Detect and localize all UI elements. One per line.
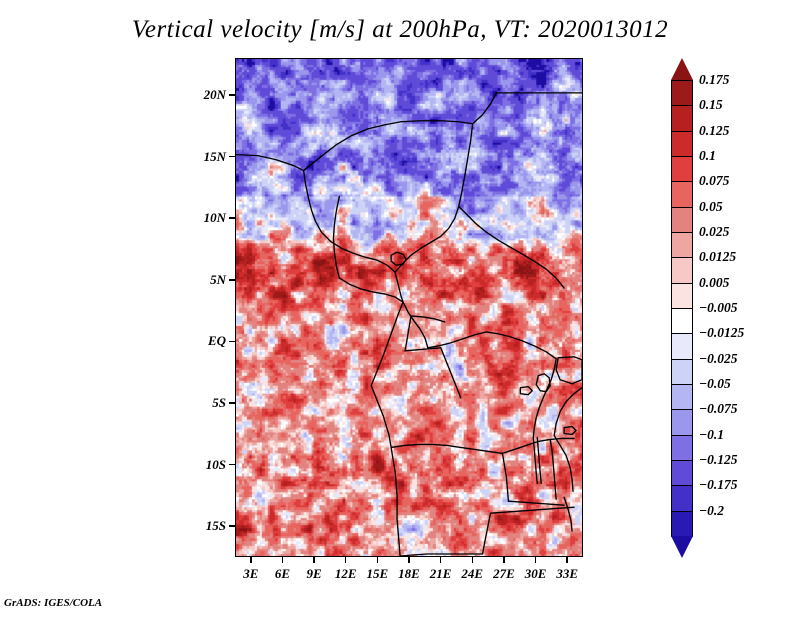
colorbar-band — [671, 80, 693, 107]
colorbar-tick-label: −0.1 — [699, 427, 724, 443]
colorbar-band — [671, 308, 693, 335]
y-axis-tick — [229, 156, 235, 158]
x-axis-label: 12E — [335, 566, 357, 582]
x-axis-tick — [408, 557, 410, 563]
colorbar-band — [671, 485, 693, 512]
x-axis-tick — [313, 557, 315, 563]
colorbar-tick-label: 0.175 — [699, 72, 729, 88]
colorbar-band — [671, 409, 693, 436]
colorbar-band — [671, 460, 693, 487]
x-axis-label: 30E — [525, 566, 547, 582]
x-axis-tick — [440, 557, 442, 563]
colorbar-band — [671, 359, 693, 386]
x-axis-label: 15E — [367, 566, 389, 582]
x-axis-tick — [472, 557, 474, 563]
colorbar-band — [671, 105, 693, 132]
y-axis-tick — [229, 94, 235, 96]
page-title: Vertical velocity [m/s] at 200hPa, VT: 2… — [0, 16, 800, 44]
x-axis-label: 21E — [430, 566, 452, 582]
colorbar-tick-label: 0.025 — [699, 224, 729, 240]
y-axis-tick — [229, 464, 235, 466]
colorbar-tick-label: 0.125 — [699, 123, 729, 139]
y-axis-tick — [229, 279, 235, 281]
y-axis-label: EQ — [187, 333, 226, 349]
colorbar-tick-label: −0.005 — [699, 300, 738, 316]
colorbar-band — [671, 257, 693, 284]
x-axis-tick — [377, 557, 379, 563]
colorbar-band — [671, 511, 693, 538]
x-axis-label: 18E — [398, 566, 420, 582]
colorbar-band — [671, 181, 693, 208]
colorbar-band — [671, 384, 693, 411]
colorbar-band — [671, 283, 693, 310]
x-axis-tick — [345, 557, 347, 563]
x-axis-label: 3E — [243, 566, 258, 582]
grads-attribution: GrADS: IGES/COLA — [4, 597, 102, 609]
colorbar-tick-label: 0.15 — [699, 97, 723, 113]
country-borders-overlay — [236, 59, 582, 556]
colorbar-tick-label: 0.1 — [699, 148, 716, 164]
x-axis-label: 9E — [306, 566, 321, 582]
colorbar-band — [671, 131, 693, 158]
map-plot-area — [235, 58, 583, 557]
colorbar-tick-label: −0.0125 — [699, 325, 744, 341]
y-axis-label: 15S — [187, 518, 226, 534]
colorbar-over-arrow — [671, 58, 693, 80]
y-axis-label: 5N — [187, 272, 226, 288]
y-axis-label: 5S — [187, 395, 226, 411]
y-axis-tick — [229, 402, 235, 404]
x-axis-tick — [503, 557, 505, 563]
y-axis-label: 10S — [187, 457, 226, 473]
x-axis-label: 33E — [556, 566, 578, 582]
y-axis-tick — [229, 341, 235, 343]
x-axis-tick — [250, 557, 252, 563]
colorbar-tick-label: −0.175 — [699, 477, 738, 493]
x-axis-label: 6E — [275, 566, 290, 582]
colorbar-band — [671, 232, 693, 259]
y-axis-tick — [229, 525, 235, 527]
colorbar-tick-label: −0.125 — [699, 452, 738, 468]
x-axis-tick — [535, 557, 537, 563]
x-axis-label: 27E — [493, 566, 515, 582]
colorbar-tick-label: −0.025 — [699, 351, 738, 367]
colorbar-tick-label: −0.2 — [699, 503, 724, 519]
x-axis-tick — [282, 557, 284, 563]
colorbar-band — [671, 333, 693, 360]
colorbar-tick-label: −0.05 — [699, 376, 731, 392]
colorbar-band — [671, 156, 693, 183]
colorbar-tick-label: 0.05 — [699, 199, 723, 215]
y-axis-label: 10N — [187, 210, 226, 226]
colorbar-band — [671, 435, 693, 462]
colorbar-tick-label: 0.075 — [699, 173, 729, 189]
colorbar-under-arrow — [671, 536, 693, 558]
colorbar-tick-label: 0.005 — [699, 275, 729, 291]
x-axis-tick — [566, 557, 568, 563]
colorbar-band — [671, 207, 693, 234]
y-axis-label: 15N — [187, 149, 226, 165]
colorbar-tick-label: −0.075 — [699, 401, 738, 417]
colorbar: 0.1750.150.1250.10.0750.050.0250.01250.0… — [671, 58, 693, 558]
y-axis-tick — [229, 217, 235, 219]
y-axis-label: 20N — [187, 87, 226, 103]
colorbar-tick-label: 0.0125 — [699, 249, 736, 265]
x-axis-label: 24E — [461, 566, 483, 582]
